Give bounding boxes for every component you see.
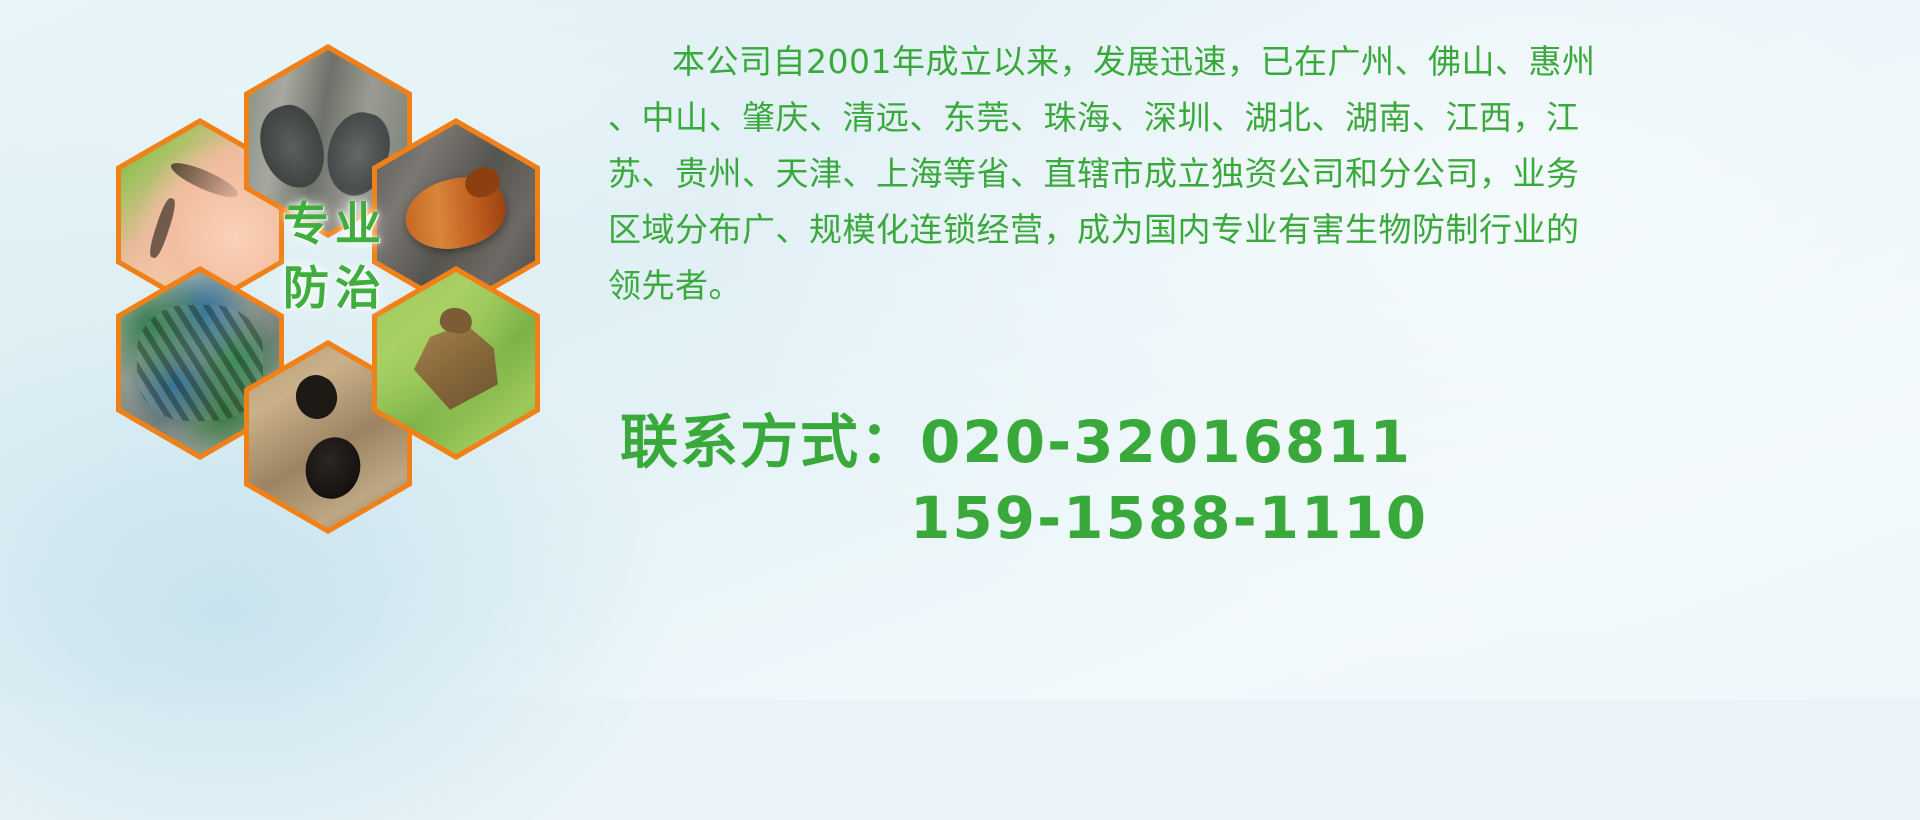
contact-block: 联系方式：020-32016811 159-1588-1110 (620, 404, 1910, 556)
slogan-overlay: 专业 防治 (255, 196, 415, 317)
slogan-line-2: 防治 (255, 260, 415, 318)
contact-phone-mobile[interactable]: 159-1588-1110 (620, 480, 1910, 556)
company-description: 本公司自2001年成立以来，发展迅速，已在广州、佛山、惠州 、中山、肇庆、清远、… (608, 34, 1878, 314)
slogan-line-1: 专业 (255, 196, 415, 254)
promo-banner: 专业 防治 本公司自2001年成立以来，发展迅速，已在广州、佛山、惠州 、中山、… (0, 0, 1920, 700)
description-line-1: 本公司自2001年成立以来，发展迅速，已在广州、佛山、惠州 (608, 34, 1878, 90)
contact-phone-landline[interactable]: 联系方式：020-32016811 (620, 404, 1910, 480)
description-line-2: 、中山、肇庆、清远、东莞、珠海、深圳、湖北、湖南、江西，江 (608, 90, 1878, 146)
description-line-4: 区域分布广、规模化连锁经营，成为国内专业有害生物防制行业的 (608, 202, 1878, 258)
description-line-3: 苏、贵州、天津、上海等省、直辖市成立独资公司和分公司，业务 (608, 146, 1878, 202)
description-line-5: 领先者。 (608, 258, 1878, 314)
